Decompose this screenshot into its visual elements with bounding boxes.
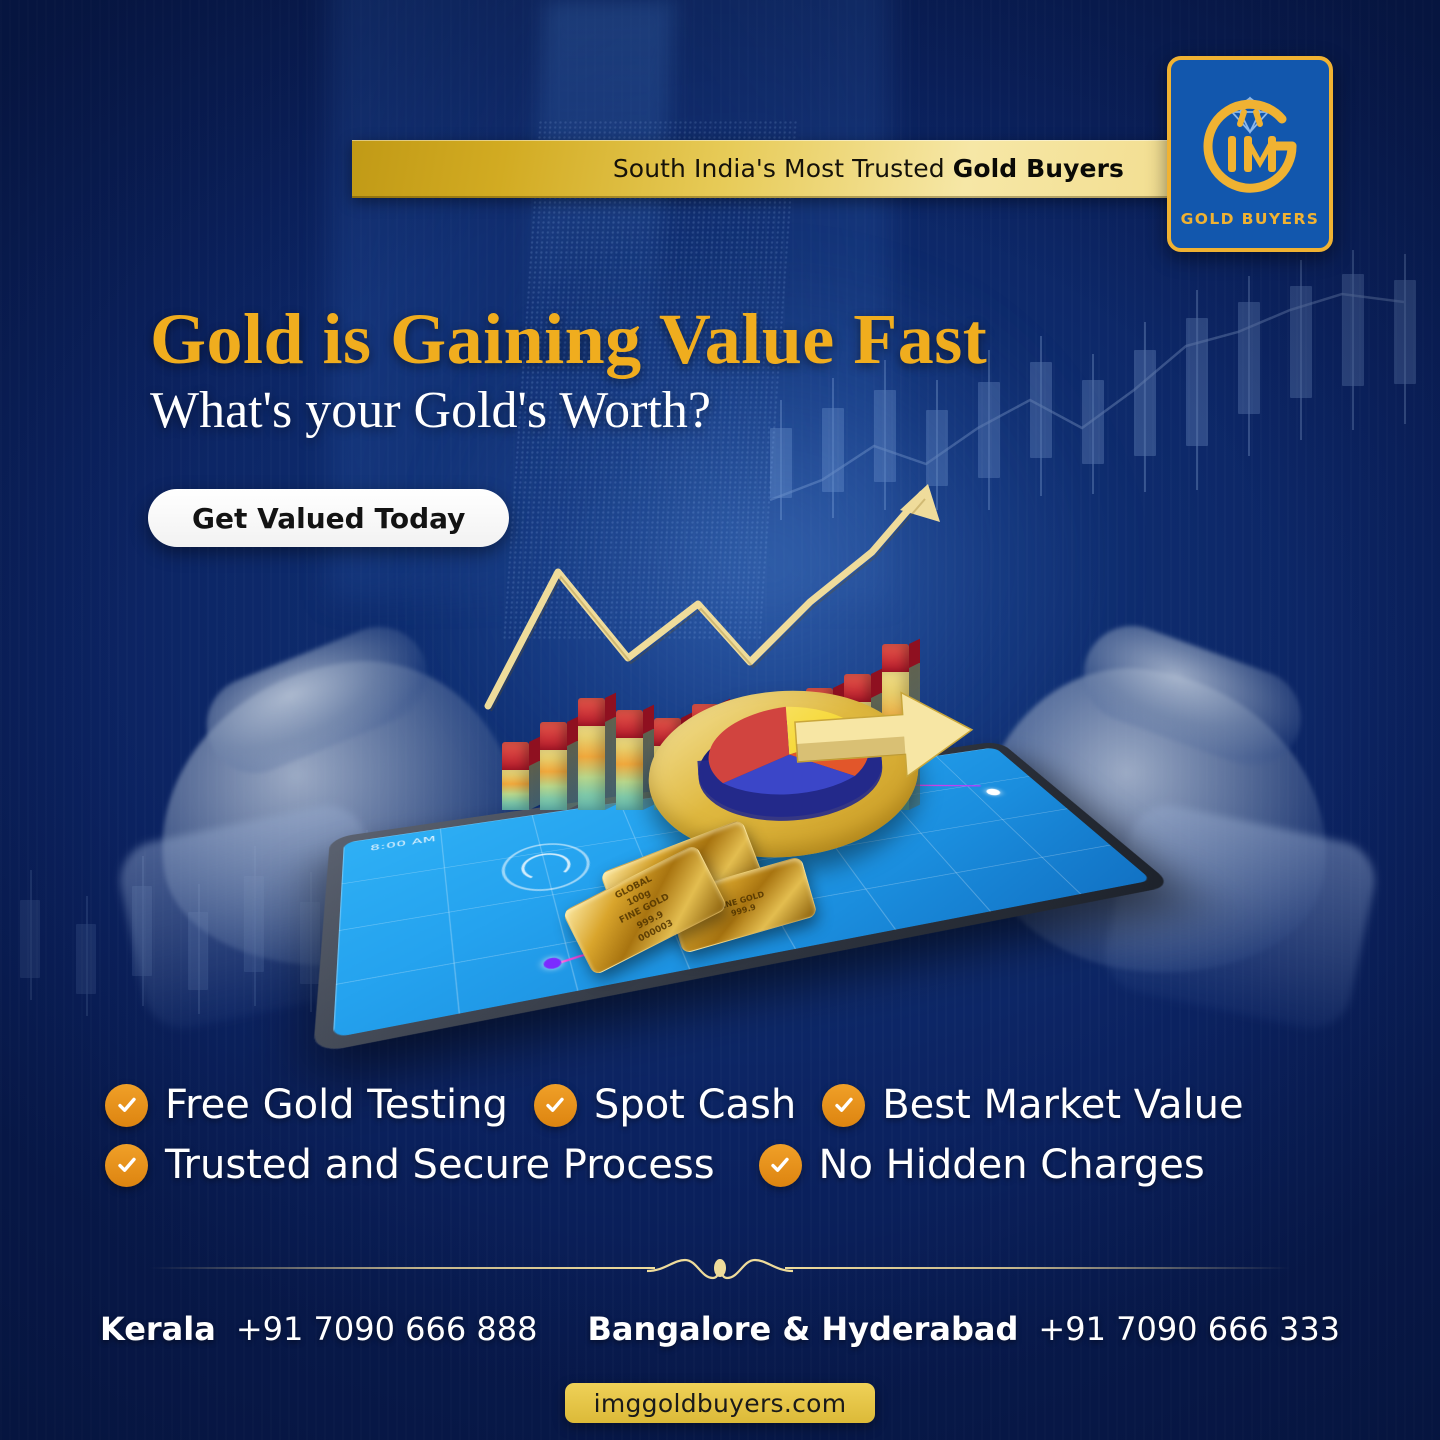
page-title: Gold is Gaining Value Fast: [150, 303, 987, 375]
bar-4: [616, 736, 643, 810]
page-subtitle: What's your Gold's Worth?: [150, 385, 711, 437]
feature-label: Best Market Value: [882, 1082, 1243, 1128]
check-circle-icon: [759, 1144, 802, 1187]
feature-item: Best Market Value: [822, 1082, 1243, 1128]
region-label-bangalore-hyderabad: Bangalore & Hyderabad: [587, 1310, 1018, 1348]
diamond-ring-icon: [1188, 84, 1312, 208]
website-url: imggoldbuyers.com: [594, 1389, 847, 1418]
tagline-normal: South India's Most Trusted: [613, 154, 953, 183]
bar-1: [502, 768, 529, 810]
gold-pointer-arrow: [792, 674, 980, 806]
feature-label: Free Gold Testing: [165, 1082, 508, 1128]
ornamental-divider: [150, 1248, 1290, 1288]
feature-item: Spot Cash: [534, 1082, 796, 1128]
feature-item: No Hidden Charges: [759, 1142, 1205, 1188]
poster-canvas: South India's Most Trusted Gold Buyers: [0, 0, 1440, 1440]
tagline-text: South India's Most Trusted Gold Buyers: [613, 154, 1124, 183]
bar-2: [540, 748, 567, 810]
divider-line-right: [785, 1267, 1290, 1269]
feature-label: Trusted and Secure Process: [165, 1142, 715, 1188]
hero-illustration: 8:00 AM: [150, 440, 1300, 1100]
check-circle-icon: [534, 1084, 577, 1127]
bar-3: [578, 724, 605, 810]
check-circle-icon: [822, 1084, 865, 1127]
divider-flourish-icon: [645, 1252, 795, 1286]
region-label-kerala: Kerala: [100, 1310, 216, 1348]
divider-line-left: [150, 1267, 655, 1269]
feature-row-1: Free Gold Testing Spot Cash Best Market …: [105, 1082, 1345, 1128]
phone-kerala[interactable]: +91 7090 666 888: [236, 1310, 538, 1348]
tagline-bold: Gold Buyers: [953, 154, 1124, 183]
pie-chart-3d: [642, 666, 954, 866]
feature-item: Free Gold Testing: [105, 1082, 508, 1128]
feature-label: No Hidden Charges: [819, 1142, 1205, 1188]
contact-row: Kerala +91 7090 666 888 Bangalore & Hyde…: [0, 1310, 1440, 1348]
gold-bars-group: GLOBAL 100g FINE GOLD 999.9 GLOBAL 100g …: [554, 840, 784, 970]
logo-subtitle: GOLD BUYERS: [1181, 210, 1320, 228]
check-circle-icon: [105, 1144, 148, 1187]
feature-item: Trusted and Secure Process: [105, 1142, 715, 1188]
brand-logo[interactable]: GOLD BUYERS: [1167, 56, 1333, 252]
feature-row-2: Trusted and Secure Process No Hidden Cha…: [105, 1142, 1345, 1188]
tagline-banner: South India's Most Trusted Gold Buyers: [352, 140, 1204, 198]
check-circle-icon: [105, 1084, 148, 1127]
feature-list: Free Gold Testing Spot Cash Best Market …: [105, 1082, 1345, 1202]
feature-label: Spot Cash: [594, 1082, 796, 1128]
phone-bangalore-hyderabad[interactable]: +91 7090 666 333: [1038, 1310, 1340, 1348]
website-badge[interactable]: imggoldbuyers.com: [565, 1383, 875, 1423]
